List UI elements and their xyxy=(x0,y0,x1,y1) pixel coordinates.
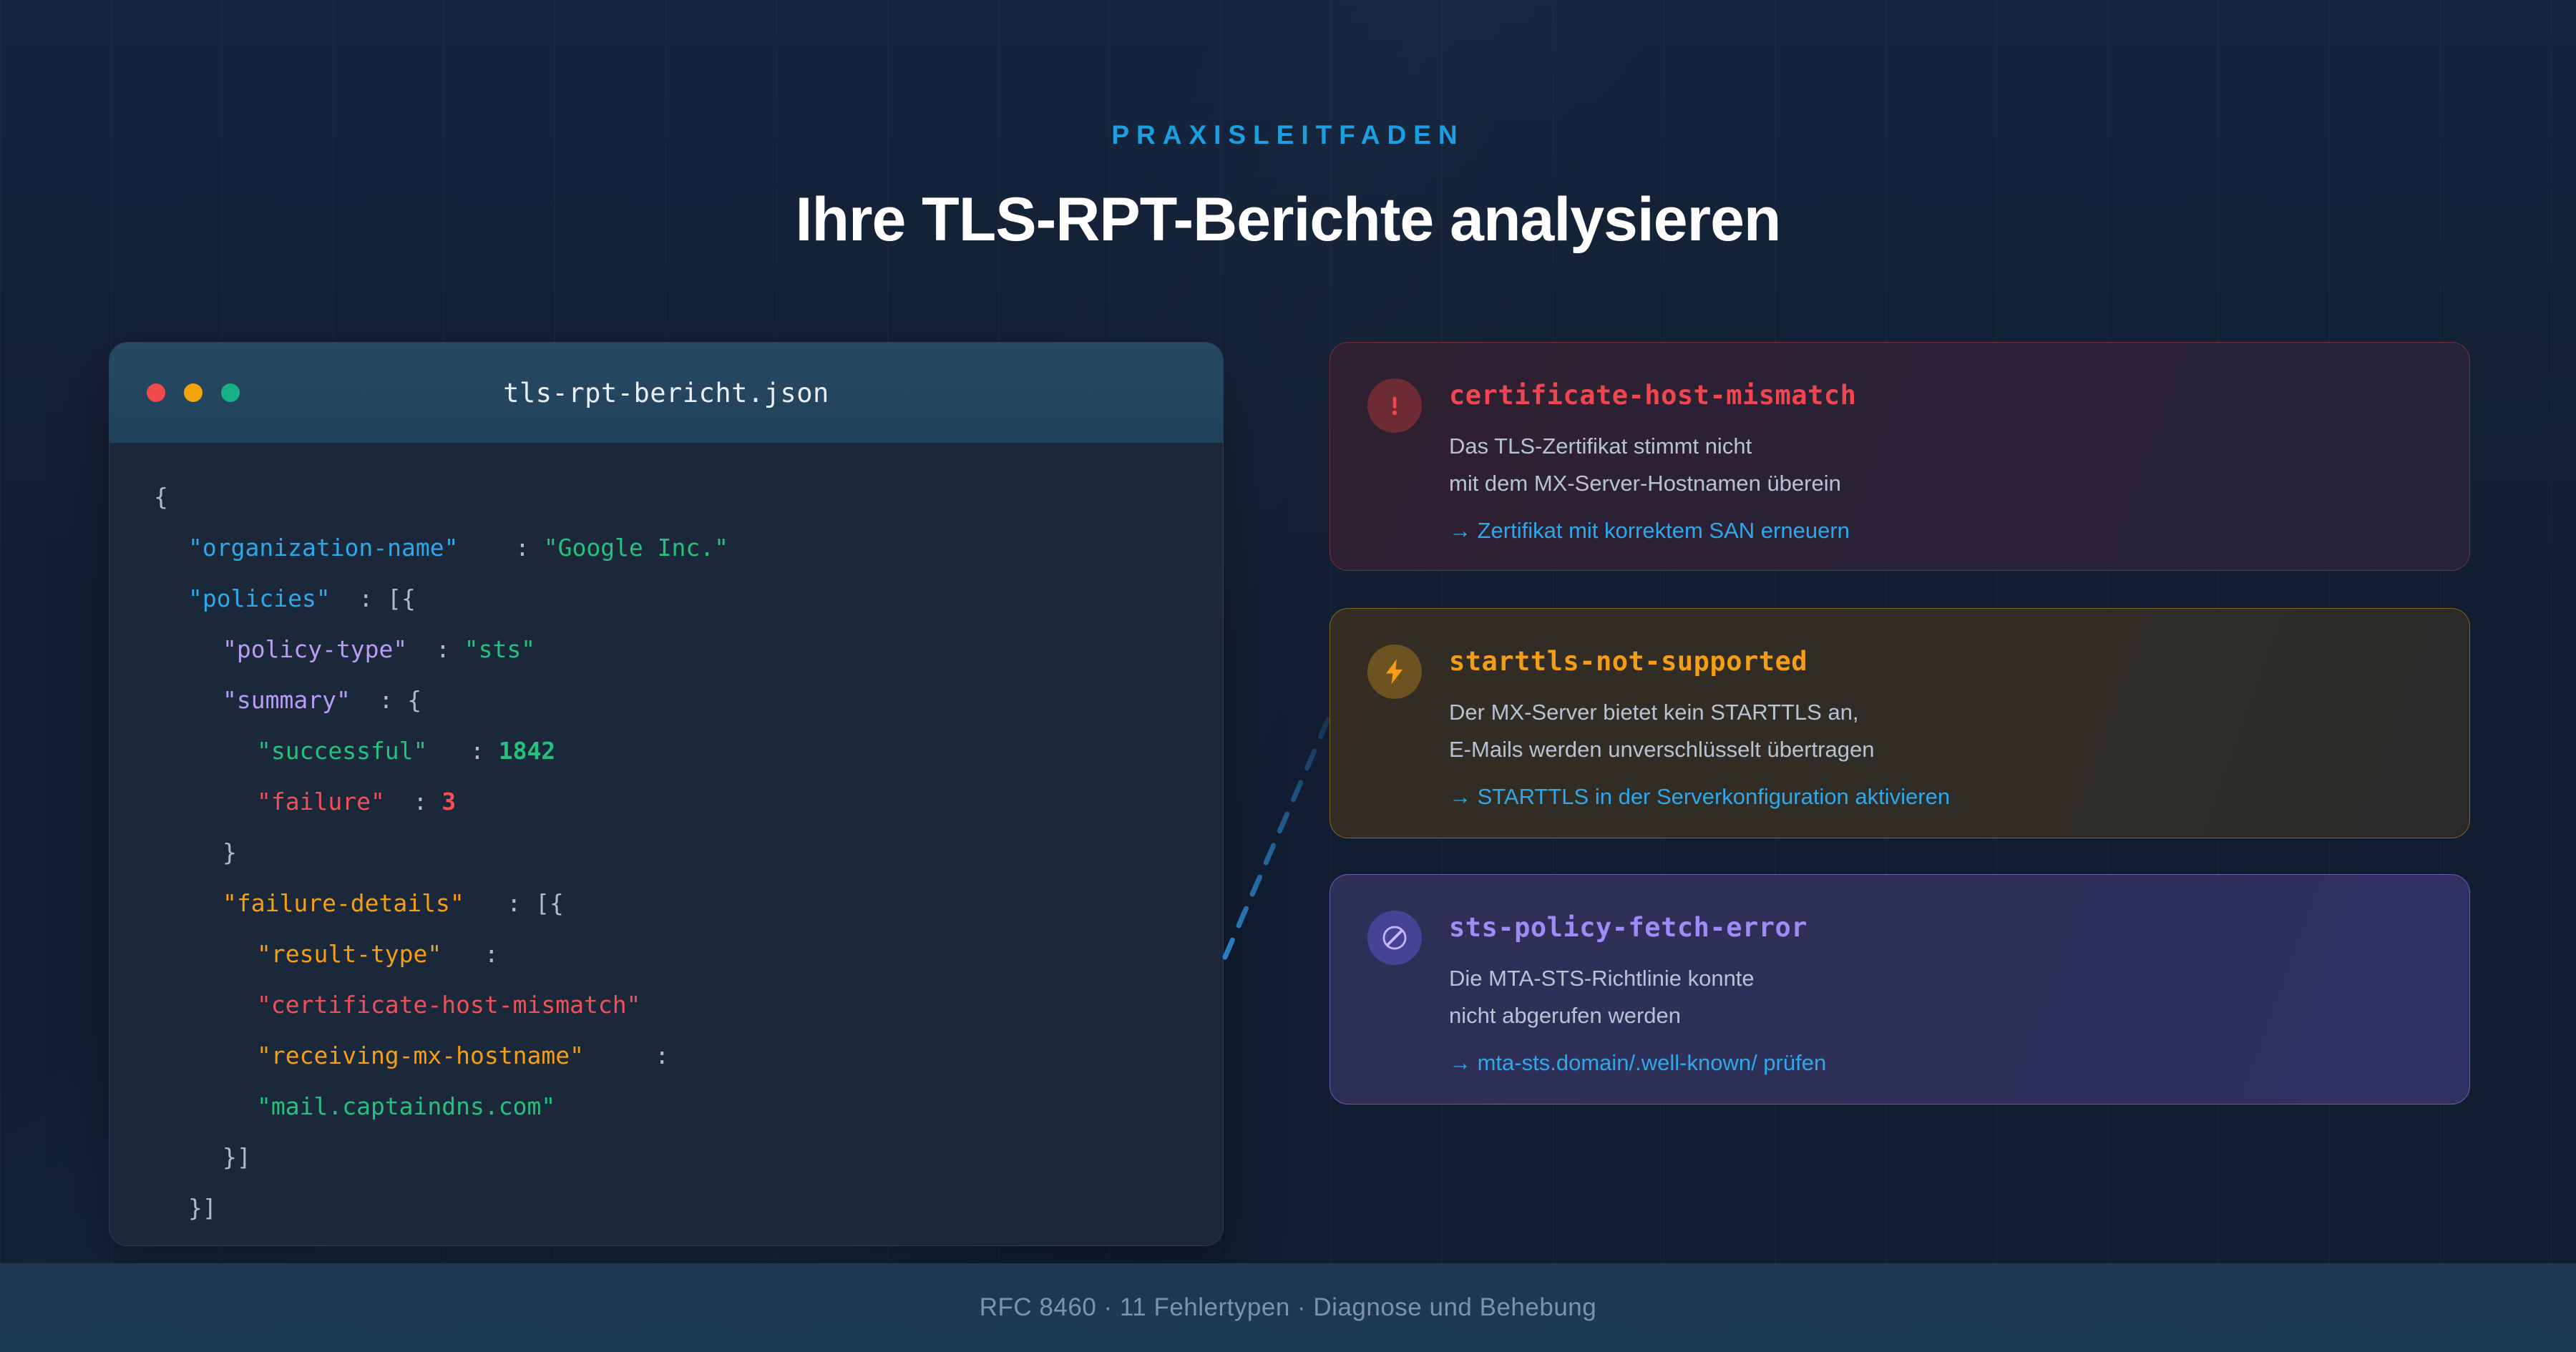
code-token: : xyxy=(427,737,498,765)
code-line: "policies" : [{ xyxy=(109,573,1223,624)
code-token: : [{ xyxy=(464,889,564,917)
code-token: : xyxy=(441,940,498,968)
eyebrow-label: PRAXISLEITFADEN xyxy=(0,120,2576,150)
code-token: "failure" xyxy=(257,788,385,815)
code-line: "result-type" : xyxy=(109,929,1223,979)
lightning-bolt-icon xyxy=(1367,645,1422,699)
code-line: "certificate-host-mismatch" xyxy=(109,979,1223,1030)
error-description: Der MX-Server bietet kein STARTTLS an, E… xyxy=(1449,694,2431,768)
code-token: { xyxy=(154,483,168,511)
code-token: : xyxy=(407,635,464,663)
error-card-certificate-host-mismatch[interactable]: certificate-host-mismatch Das TLS-Zertif… xyxy=(1330,342,2470,571)
footer-bar: RFC 8460 · 11 Fehlertypen · Diagnose und… xyxy=(0,1263,2576,1352)
minimize-window-dot[interactable] xyxy=(184,383,203,402)
code-token: "summary" xyxy=(223,686,351,714)
error-card-starttls-not-supported[interactable]: starttls-not-supported Der MX-Server bie… xyxy=(1330,608,2470,838)
code-line: }] xyxy=(109,1182,1223,1233)
code-line: { xyxy=(109,471,1223,522)
error-description-line-1: Die MTA-STS-Richtlinie konnte xyxy=(1449,960,2431,997)
code-token: } xyxy=(223,838,237,866)
code-line: } xyxy=(109,827,1223,878)
error-description-line-2: E-Mails werden unverschlüsselt übertrage… xyxy=(1449,731,2431,768)
code-token: : [{ xyxy=(331,584,416,612)
file-name-label: tls-rpt-bericht.json xyxy=(109,378,1223,408)
code-token: : xyxy=(459,534,544,562)
code-window-title-bar: tls-rpt-bericht.json xyxy=(109,343,1223,443)
code-token: "policies" xyxy=(188,584,331,612)
code-line: }] xyxy=(109,1132,1223,1182)
error-fix-link[interactable]: → STARTTLS in der Serverkonfiguration ak… xyxy=(1449,784,2431,810)
code-line: "failure-details" : [{ xyxy=(109,878,1223,929)
code-token: : xyxy=(584,1042,669,1069)
error-description-line-2: mit dem MX-Server-Hostnamen überein xyxy=(1449,465,2431,502)
poster-canvas: PRAXISLEITFADEN Ihre TLS-RPT-Berichte an… xyxy=(0,0,2576,1352)
code-token: "certificate-host-mismatch" xyxy=(257,991,640,1019)
error-code-label: certificate-host-mismatch xyxy=(1449,380,2431,411)
code-token: 1842 xyxy=(499,737,555,765)
error-fix-link[interactable]: → mta-sts.domain/.well-known/ prüfen xyxy=(1449,1050,2431,1076)
code-line: "policy-type" : "sts" xyxy=(109,624,1223,675)
error-description-line-1: Der MX-Server bietet kein STARTTLS an, xyxy=(1449,694,2431,731)
error-card-sts-policy-fetch-error[interactable]: sts-policy-fetch-error Die MTA-STS-Richt… xyxy=(1330,874,2470,1104)
error-description: Die MTA-STS-Richtlinie konnte nicht abge… xyxy=(1449,960,2431,1034)
code-token: } xyxy=(154,1245,168,1246)
code-token: }] xyxy=(223,1143,251,1171)
code-token: "policy-type" xyxy=(223,635,407,663)
code-token: "sts" xyxy=(464,635,535,663)
code-line: "organization-name" : "Google Inc." xyxy=(109,522,1223,573)
code-window: tls-rpt-bericht.json {"organization-name… xyxy=(109,342,1224,1246)
code-line: "summary" : { xyxy=(109,675,1223,725)
code-token: "mail.captaindns.com" xyxy=(257,1092,555,1120)
maximize-window-dot[interactable] xyxy=(221,383,240,402)
code-token: "Google Inc." xyxy=(544,534,728,562)
error-description-line-2: nicht abgerufen werden xyxy=(1449,997,2431,1034)
code-line: "receiving-mx-hostname" : xyxy=(109,1030,1223,1081)
error-code-label: starttls-not-supported xyxy=(1449,646,2431,677)
code-body[interactable]: {"organization-name" : "Google Inc.""pol… xyxy=(109,443,1223,1245)
code-token: }] xyxy=(188,1194,217,1222)
code-token: : xyxy=(385,788,441,815)
error-description: Das TLS-Zertifikat stimmt nicht mit dem … xyxy=(1449,428,2431,502)
page-title: Ihre TLS-RPT-Berichte analysieren xyxy=(0,185,2576,255)
code-line: "successful" : 1842 xyxy=(109,725,1223,776)
code-token: "organization-name" xyxy=(188,534,459,562)
footer-text: RFC 8460 · 11 Fehlertypen · Diagnose und… xyxy=(980,1293,1596,1322)
close-window-dot[interactable] xyxy=(147,383,165,402)
code-token: "result-type" xyxy=(257,940,441,968)
traffic-light-group xyxy=(147,383,240,402)
error-code-label: sts-policy-fetch-error xyxy=(1449,912,2431,943)
error-description-line-1: Das TLS-Zertifikat stimmt nicht xyxy=(1449,428,2431,465)
code-token: "failure-details" xyxy=(223,889,464,917)
code-token: "receiving-mx-hostname" xyxy=(257,1042,584,1069)
code-token: "successful" xyxy=(257,737,427,765)
code-token: : { xyxy=(351,686,421,714)
code-line: "mail.captaindns.com" xyxy=(109,1081,1223,1132)
code-line: "failure" : 3 xyxy=(109,776,1223,827)
error-fix-link[interactable]: → Zertifikat mit korrektem SAN erneuern xyxy=(1449,518,2431,544)
exclamation-icon xyxy=(1367,378,1422,433)
code-token: 3 xyxy=(441,788,456,815)
prohibition-icon xyxy=(1367,911,1422,965)
code-line: } xyxy=(109,1233,1223,1246)
